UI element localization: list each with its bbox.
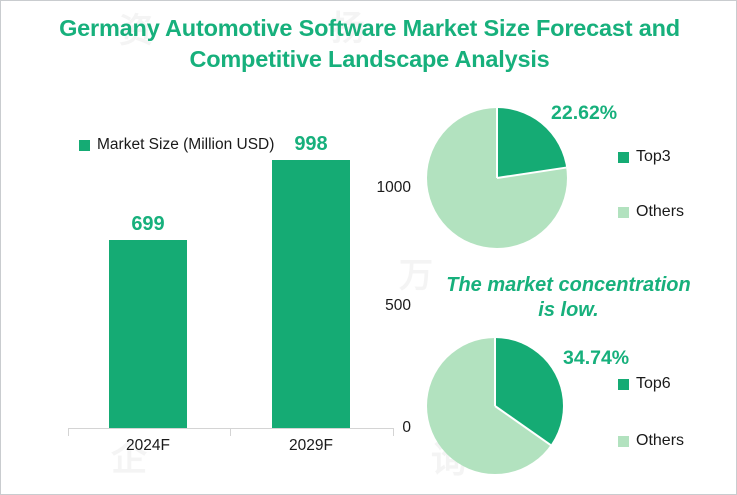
bar-value-label: 998 — [272, 133, 350, 156]
infographic-canvas: 资 扬 资 万 企 询 Germany Automotive Software … — [0, 0, 737, 495]
bar-chart-legend-label: Market Size (Million USD) — [97, 136, 274, 154]
pie-chart-top6[interactable] — [427, 338, 563, 474]
pie-slice-separator — [497, 167, 567, 179]
callout-line-1: The market concentration — [406, 273, 731, 298]
pie-legend-label: Top6 — [636, 375, 671, 393]
pie-slice-separator — [496, 108, 498, 178]
bar-chart: Market Size (Million USD) 1000 500 0 699… — [1, 101, 411, 486]
legend-swatch-icon — [618, 436, 629, 447]
pie-legend-item-top6[interactable]: Top6 — [618, 375, 671, 393]
pie-legend-label: Others — [636, 203, 684, 221]
x-axis-tick-mark — [68, 428, 69, 436]
pie-legend-item-others[interactable]: Others — [618, 203, 684, 221]
x-axis-category-label: 2029F — [251, 437, 371, 455]
bar-2024f[interactable] — [109, 240, 187, 428]
pie-legend-item-others[interactable]: Others — [618, 432, 684, 450]
x-axis-tick-mark — [230, 428, 231, 436]
x-axis-category-label: 2024F — [88, 437, 208, 455]
legend-swatch-icon — [79, 140, 90, 151]
legend-swatch-icon — [618, 379, 629, 390]
pie-slice-separator — [494, 338, 496, 406]
callout-text: The market concentration is low. — [406, 273, 731, 323]
pie-legend-item-top3[interactable]: Top3 — [618, 148, 671, 166]
x-axis-tick-mark — [393, 428, 394, 436]
pie-slice-separator — [494, 405, 551, 446]
pie-legend-label: Others — [636, 432, 684, 450]
pie-legend-label: Top3 — [636, 148, 671, 166]
y-axis-tick-label: 500 — [343, 297, 411, 315]
pie-percent-label-top3: 22.62% — [551, 102, 617, 125]
y-axis-tick-label: 1000 — [343, 179, 411, 197]
callout-line-2: is low. — [406, 298, 731, 323]
legend-swatch-icon — [618, 152, 629, 163]
pie-percent-label-top6: 34.74% — [563, 347, 629, 370]
page-title: Germany Automotive Software Market Size … — [13, 13, 726, 75]
bar-value-label: 699 — [109, 213, 187, 236]
legend-swatch-icon — [618, 207, 629, 218]
bar-2029f[interactable] — [272, 160, 350, 428]
pie-chart-top3[interactable] — [427, 108, 567, 248]
bar-chart-legend: Market Size (Million USD) — [79, 136, 274, 154]
